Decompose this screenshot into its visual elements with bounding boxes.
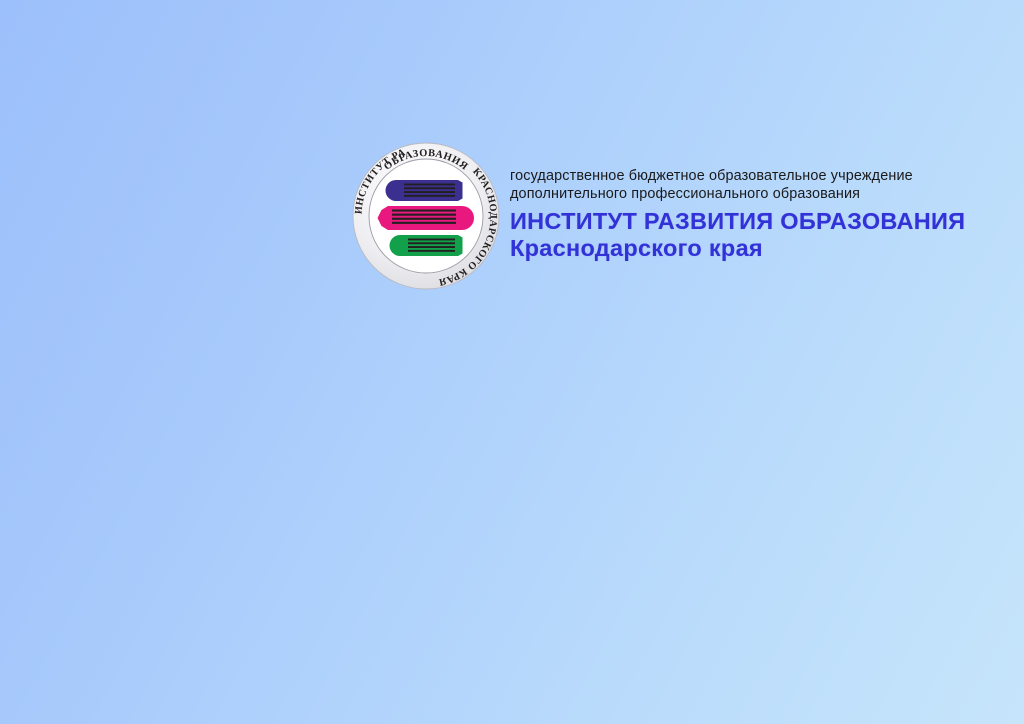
letterhead: ОБРАЗОВАНИЯ ИНСТИТУТ РАЗВИТИЯ КРАСНОДАРС…	[352, 142, 965, 290]
book-middle-icon	[378, 206, 475, 230]
org-subtitle-line-2: дополнительного профессионального образо…	[510, 186, 965, 204]
book-top-icon	[386, 180, 463, 201]
organization-text-block: государственное бюджетное образовательно…	[510, 142, 965, 261]
book-bottom-icon	[390, 235, 463, 256]
institute-emblem: ОБРАЗОВАНИЯ ИНСТИТУТ РАЗВИТИЯ КРАСНОДАРС…	[352, 142, 500, 290]
emblem-graphic: ОБРАЗОВАНИЯ ИНСТИТУТ РАЗВИТИЯ КРАСНОДАРС…	[352, 142, 500, 290]
org-title-line-2: Краснодарского края	[510, 235, 965, 261]
org-subtitle-line-1: государственное бюджетное образовательно…	[510, 168, 965, 186]
org-title-line-1: ИНСТИТУТ РАЗВИТИЯ ОБРАЗОВАНИЯ	[510, 208, 965, 234]
